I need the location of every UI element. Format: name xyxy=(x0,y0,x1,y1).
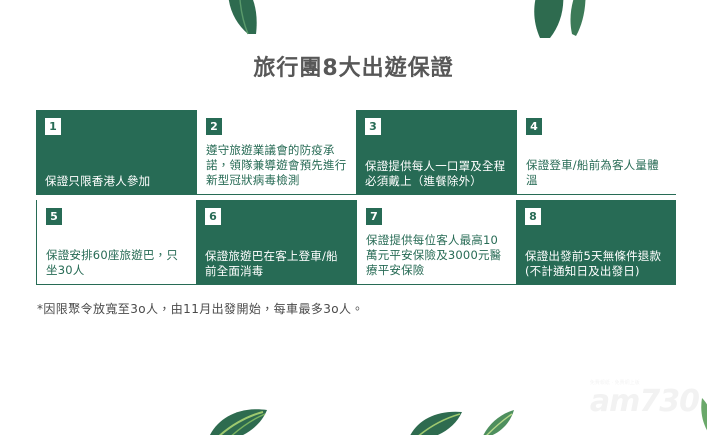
watermark-logo: 免費報紙 · 免費網上版 am730 xyxy=(590,381,699,417)
guarantee-card-2: 2 遵守旅遊業議會的防疫承諾，領隊兼導遊會預先進行新型冠狀病毒檢測 xyxy=(196,110,356,195)
leaf-decoration-bottom-left xyxy=(205,404,275,435)
guarantee-number-badge: 4 xyxy=(526,118,542,135)
guarantee-card-4: 4 保證登車/船前為客人量體溫 xyxy=(516,110,676,195)
guarantee-card-5: 5 保證安排60座旅遊巴，只坐30人 xyxy=(36,200,196,285)
guarantee-text: 保證安排60座旅遊巴，只坐30人 xyxy=(46,248,188,278)
footnote-text: *因限聚令放寬至3o人，由11月出發開始，每車最多3o人。 xyxy=(37,300,364,318)
leaf-decoration-bottom-middle xyxy=(408,408,468,435)
leaf-decoration-bottom-right xyxy=(478,410,518,435)
leaf-decoration-top-left xyxy=(218,0,278,36)
guarantee-text: 保證出發前5天無條件退款(不計通知日及出發日) xyxy=(525,249,668,279)
guarantee-number-badge: 5 xyxy=(46,208,62,225)
page-title: 旅行團8大出遊保證 xyxy=(0,55,707,83)
leaf-decoration-bottom-far-right xyxy=(700,398,707,434)
guarantee-text: 保證旅遊巴在客上登車/船前全面消毒 xyxy=(205,249,348,279)
guarantee-number-badge: 1 xyxy=(45,118,61,135)
guarantee-number-badge: 8 xyxy=(525,208,541,225)
watermark-text: am730 xyxy=(590,384,699,419)
guarantee-text: 保證提供每位客人最高10萬元平安保險及3000元醫療平安保險 xyxy=(366,233,508,278)
guarantee-grid: 1 保證只限香港人參加 2 遵守旅遊業議會的防疫承諾，領隊兼導遊會預先進行新型冠… xyxy=(36,110,676,285)
guarantee-card-3: 3 保證提供每人一口罩及全程必須戴上（進餐除外） xyxy=(356,110,516,195)
guarantee-card-8: 8 保證出發前5天無條件退款(不計通知日及出發日) xyxy=(516,200,676,285)
guarantee-text: 保證提供每人一口罩及全程必須戴上（進餐除外） xyxy=(365,159,508,189)
poster-canvas: 旅行團8大出遊保證 1 保證只限香港人參加 2 遵守旅遊業議會的防疫承諾，領隊兼… xyxy=(0,0,707,435)
guarantee-text: 保證只限香港人參加 xyxy=(45,174,188,189)
guarantee-text: 遵守旅遊業議會的防疫承諾，領隊兼導遊會預先進行新型冠狀病毒檢測 xyxy=(206,143,348,188)
guarantee-card-7: 7 保證提供每位客人最高10萬元平安保險及3000元醫療平安保險 xyxy=(356,200,516,285)
guarantee-number-badge: 7 xyxy=(366,208,382,225)
guarantee-card-6: 6 保證旅遊巴在客上登車/船前全面消毒 xyxy=(196,200,356,285)
guarantee-number-badge: 3 xyxy=(365,118,381,135)
guarantee-number-badge: 2 xyxy=(206,118,222,135)
guarantee-number-badge: 6 xyxy=(205,208,221,225)
guarantee-card-1: 1 保證只限香港人參加 xyxy=(36,110,196,195)
leaf-decoration-top-right xyxy=(520,0,590,40)
guarantee-text: 保證登車/船前為客人量體溫 xyxy=(526,158,668,188)
